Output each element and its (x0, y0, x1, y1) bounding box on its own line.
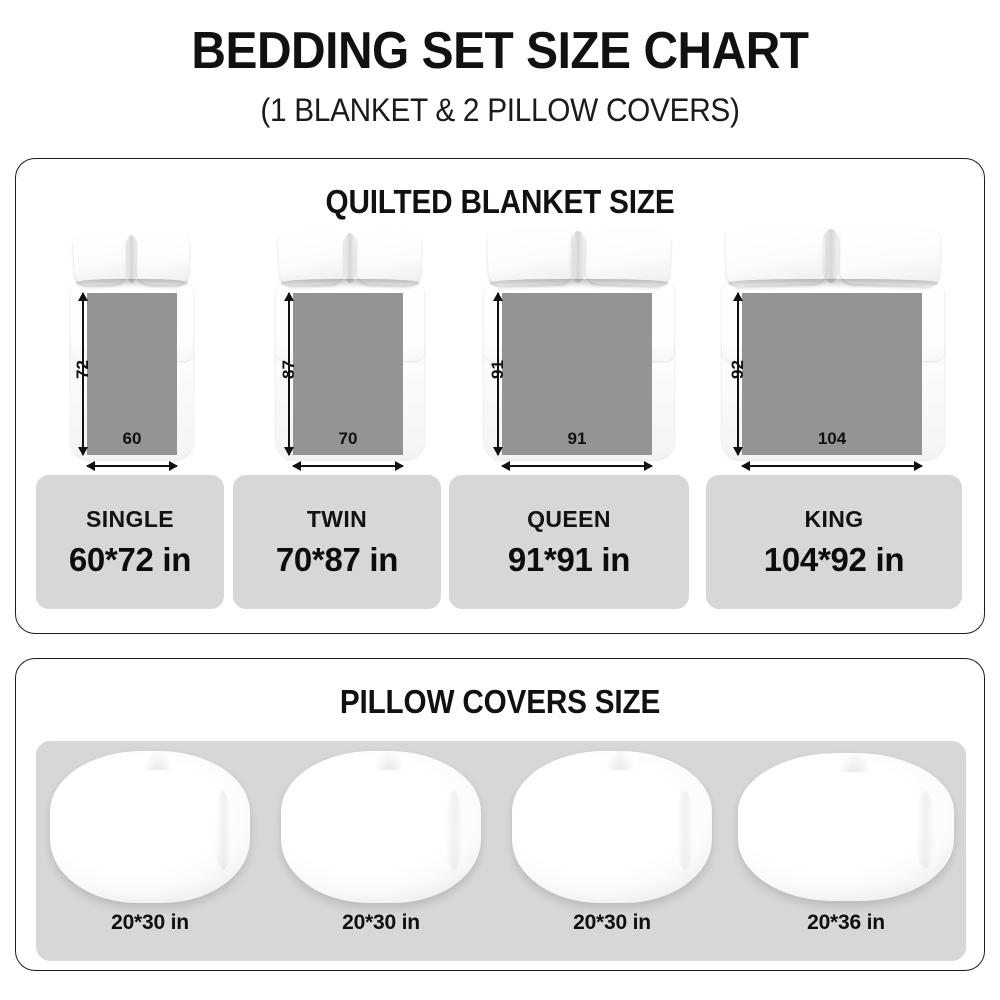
width-arrow (87, 460, 177, 472)
size-chart-page: BEDDING SET SIZE CHART (1 BLANKET & 2 PI… (0, 0, 1000, 1000)
bed-pillow-left (278, 230, 344, 286)
pillow-covers-panel: 20*30 in 20*30 in 20*30 in 20*36 in (36, 741, 966, 961)
length-label: 91 (488, 363, 508, 379)
pillow-shadow (728, 279, 938, 288)
size-name: QUEEN (527, 508, 611, 531)
pillow-cover-notch (837, 751, 872, 772)
pillow-cover-notch (373, 749, 405, 770)
width-label: 91 (502, 429, 652, 449)
size-box-twin[interactable]: TWIN 70*87 in (233, 475, 441, 609)
size-box-king[interactable]: KING 104*92 in (706, 475, 962, 609)
length-label: 87 (279, 363, 299, 379)
pillow-section-title: PILLOW COVERS SIZE (64, 683, 935, 721)
size-dimension: 91*91 in (508, 543, 630, 576)
bed-illustrations-row: 72 60 (16, 221, 984, 461)
quilted-blanket-card: QUILTED BLANKET SIZE 72 (15, 158, 985, 634)
pillow-shadow (281, 279, 419, 288)
size-name: TWIN (307, 508, 367, 531)
bed-pillow-right (585, 228, 671, 287)
blanket-section-title: QUILTED BLANKET SIZE (64, 183, 935, 221)
bed-illustration-queen: 91 91 (464, 221, 704, 461)
pillow-cover-label-4: 20*36 in (738, 911, 954, 935)
length-label: 92 (728, 363, 748, 379)
bed-pillow-right (839, 225, 941, 286)
bed-pillow-left (487, 228, 573, 287)
pillow-crease (341, 233, 359, 283)
pillow-covers-card: PILLOW COVERS SIZE 20*30 in 20*30 in 20*… (15, 658, 985, 971)
page-title: BEDDING SET SIZE CHART (40, 24, 960, 79)
width-label: 60 (87, 429, 177, 449)
width-arrow (742, 460, 922, 472)
bed-pillow-left (73, 232, 127, 286)
size-box-queen[interactable]: QUEEN 91*91 in (449, 475, 689, 609)
pillow-cover-2 (281, 751, 481, 903)
bed-illustration-twin: 87 70 (248, 221, 456, 461)
pillow-cover-fold (214, 791, 232, 870)
pillow-crease (820, 229, 842, 283)
bed-pillow-right (356, 230, 422, 286)
width-label: 70 (293, 429, 403, 449)
width-arrow (502, 460, 652, 472)
pillow-cover-label-1: 20*30 in (50, 911, 250, 935)
pillow-cover-label-2: 20*30 in (281, 911, 481, 935)
width-label: 104 (742, 429, 922, 449)
size-dimension: 104*92 in (764, 543, 904, 576)
size-dimension: 60*72 in (69, 543, 191, 576)
pillow-cover-3 (512, 751, 712, 903)
size-name: SINGLE (86, 508, 174, 531)
pillow-cover-4 (738, 753, 954, 901)
bed-pillow-left (725, 225, 827, 286)
pillow-shadow (76, 279, 188, 288)
length-label: 72 (73, 363, 93, 379)
pillow-cover-notch (142, 749, 174, 770)
width-arrow (293, 460, 403, 472)
pillow-crease (124, 235, 139, 283)
page-subtitle: (1 BLANKET & 2 PILLOW COVERS) (35, 92, 965, 129)
bed-illustration-single: 72 60 (36, 221, 226, 461)
pillow-crease (568, 231, 588, 283)
size-dimension: 70*87 in (276, 543, 398, 576)
bed-illustration-king: 92 104 (706, 221, 976, 461)
pillow-cover-notch (604, 749, 636, 770)
bed-pillow-right (136, 232, 190, 286)
pillow-cover-1 (50, 751, 250, 903)
pillow-shadow (490, 279, 668, 288)
pillow-cover-fold (676, 791, 694, 870)
size-name: KING (804, 508, 863, 531)
pillow-cover-fold (915, 791, 934, 868)
pillow-cover-fold (445, 791, 463, 870)
size-box-single[interactable]: SINGLE 60*72 in (36, 475, 224, 609)
pillow-cover-label-3: 20*30 in (512, 911, 712, 935)
